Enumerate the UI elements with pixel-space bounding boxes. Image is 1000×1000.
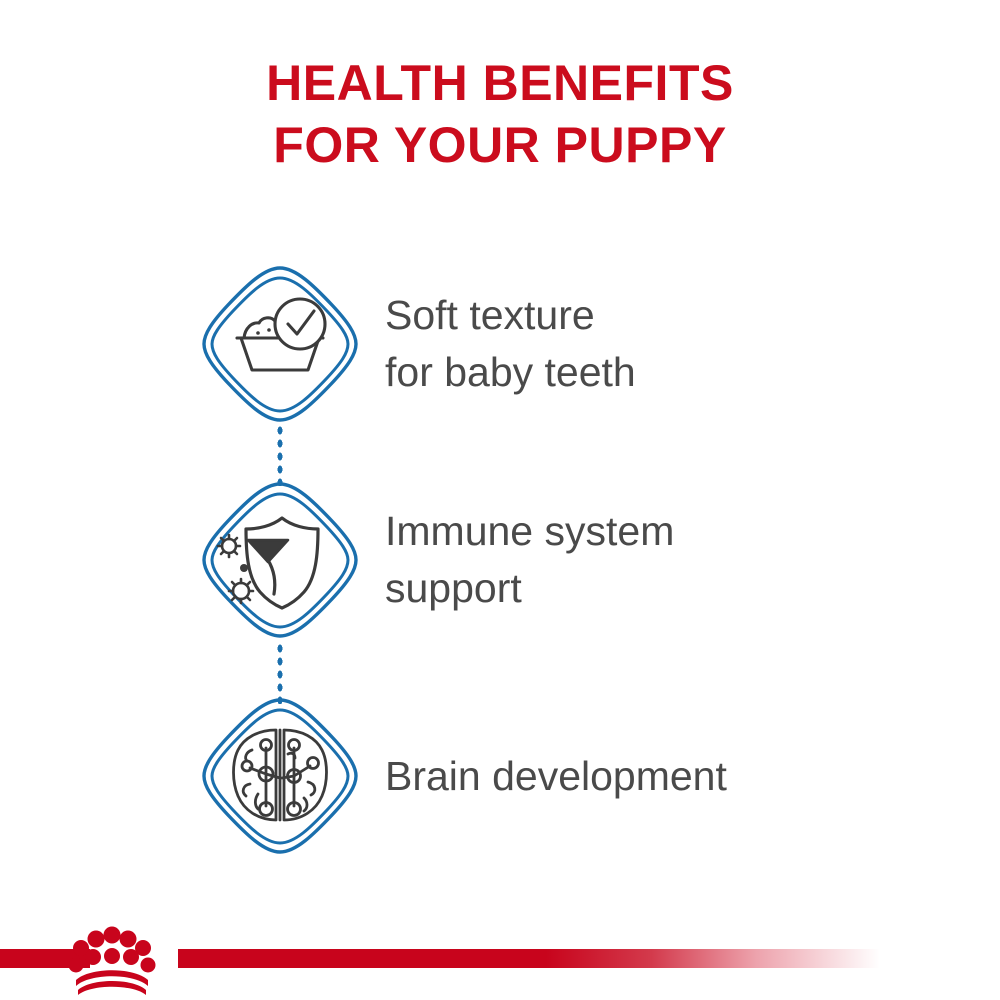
benefit-item-brain-development: Brain development — [0, 668, 1000, 884]
page-title-line-1: HEALTH BENEFITS — [0, 52, 1000, 114]
diamond-outline-outer — [204, 268, 356, 420]
page-title: HEALTH BENEFITS FOR YOUR PUPPY — [0, 52, 1000, 176]
diamond-outline-outer — [204, 484, 356, 636]
brain-network-icon — [234, 730, 327, 820]
connector-dots-1 — [276, 424, 284, 486]
benefit-label-3: Brain development — [385, 748, 985, 805]
benefit-item-soft-texture: Soft texture for baby teeth — [0, 236, 1000, 452]
diamond-outline-inner — [212, 278, 348, 411]
benefits-list: Soft texture for baby teeth — [0, 236, 1000, 884]
royal-canin-crown-logo — [52, 918, 170, 1000]
shield-germs-icon — [218, 518, 318, 608]
page-title-line-2: FOR YOUR PUPPY — [0, 114, 1000, 176]
benefit-item-immune-support: Immune system support — [0, 452, 1000, 668]
footer — [0, 918, 1000, 1000]
connector-dots-2 — [276, 642, 284, 704]
benefit-badge-1 — [196, 236, 364, 452]
benefit-label-2: Immune system support — [385, 503, 985, 617]
food-bowl-check-icon — [237, 299, 325, 370]
benefit-label-1: Soft texture for baby teeth — [385, 287, 985, 401]
